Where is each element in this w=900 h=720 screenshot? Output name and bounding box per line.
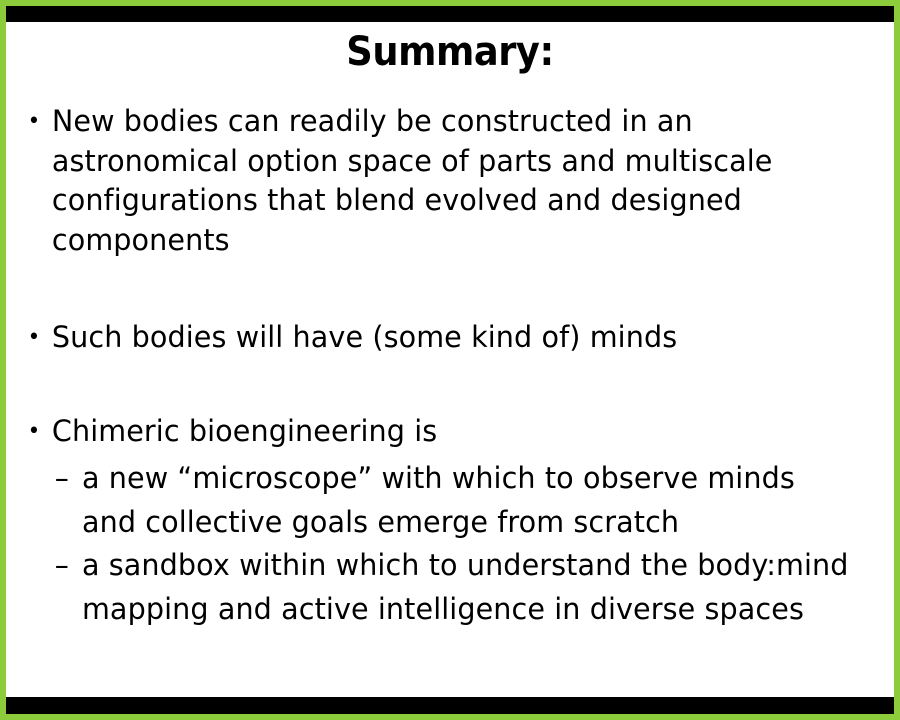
bullet-marker-icon: •: [28, 412, 41, 452]
bottom-decorative-bar: [6, 697, 894, 714]
dash-marker-icon: –: [55, 544, 69, 588]
bullet-item-1: • New bodies can readily be constructed …: [16, 102, 882, 260]
dash-marker-icon: –: [55, 457, 69, 501]
sub-bullet-item-2: – a sandbox within which to understand t…: [16, 544, 856, 631]
bullet-line: • New bodies can readily be constructed …: [16, 102, 856, 260]
spacer: [16, 358, 882, 412]
bullet-item-3: • Chimeric bioengineering is – a new “mi…: [16, 412, 882, 632]
bullet-line: • Chimeric bioengineering is: [16, 412, 856, 452]
sub-bullet-text: a new “microscope” with which to observe…: [82, 461, 795, 539]
top-decorative-bar: [6, 6, 894, 22]
bullet-text: New bodies can readily be constructed in…: [52, 104, 773, 257]
bullet-marker-icon: •: [28, 318, 41, 358]
spacer: [16, 260, 882, 318]
bullet-line: • Such bodies will have (some kind of) m…: [16, 318, 856, 358]
bullet-text: Such bodies will have (some kind of) min…: [52, 320, 677, 354]
page-title: Summary:: [42, 28, 859, 76]
sub-bullet-item-1: – a new “microscope” with which to obser…: [16, 457, 856, 544]
slide-body: • New bodies can readily be constructed …: [6, 102, 894, 690]
presentation-slide: Summary: • New bodies can readily be con…: [0, 0, 900, 720]
bullet-text: Chimeric bioengineering is: [52, 414, 437, 448]
sub-bullet-list: – a new “microscope” with which to obser…: [16, 457, 882, 631]
bullet-marker-icon: •: [28, 102, 41, 142]
sub-bullet-text: a sandbox within which to understand the…: [82, 548, 849, 626]
bullet-item-2: • Such bodies will have (some kind of) m…: [16, 318, 882, 358]
